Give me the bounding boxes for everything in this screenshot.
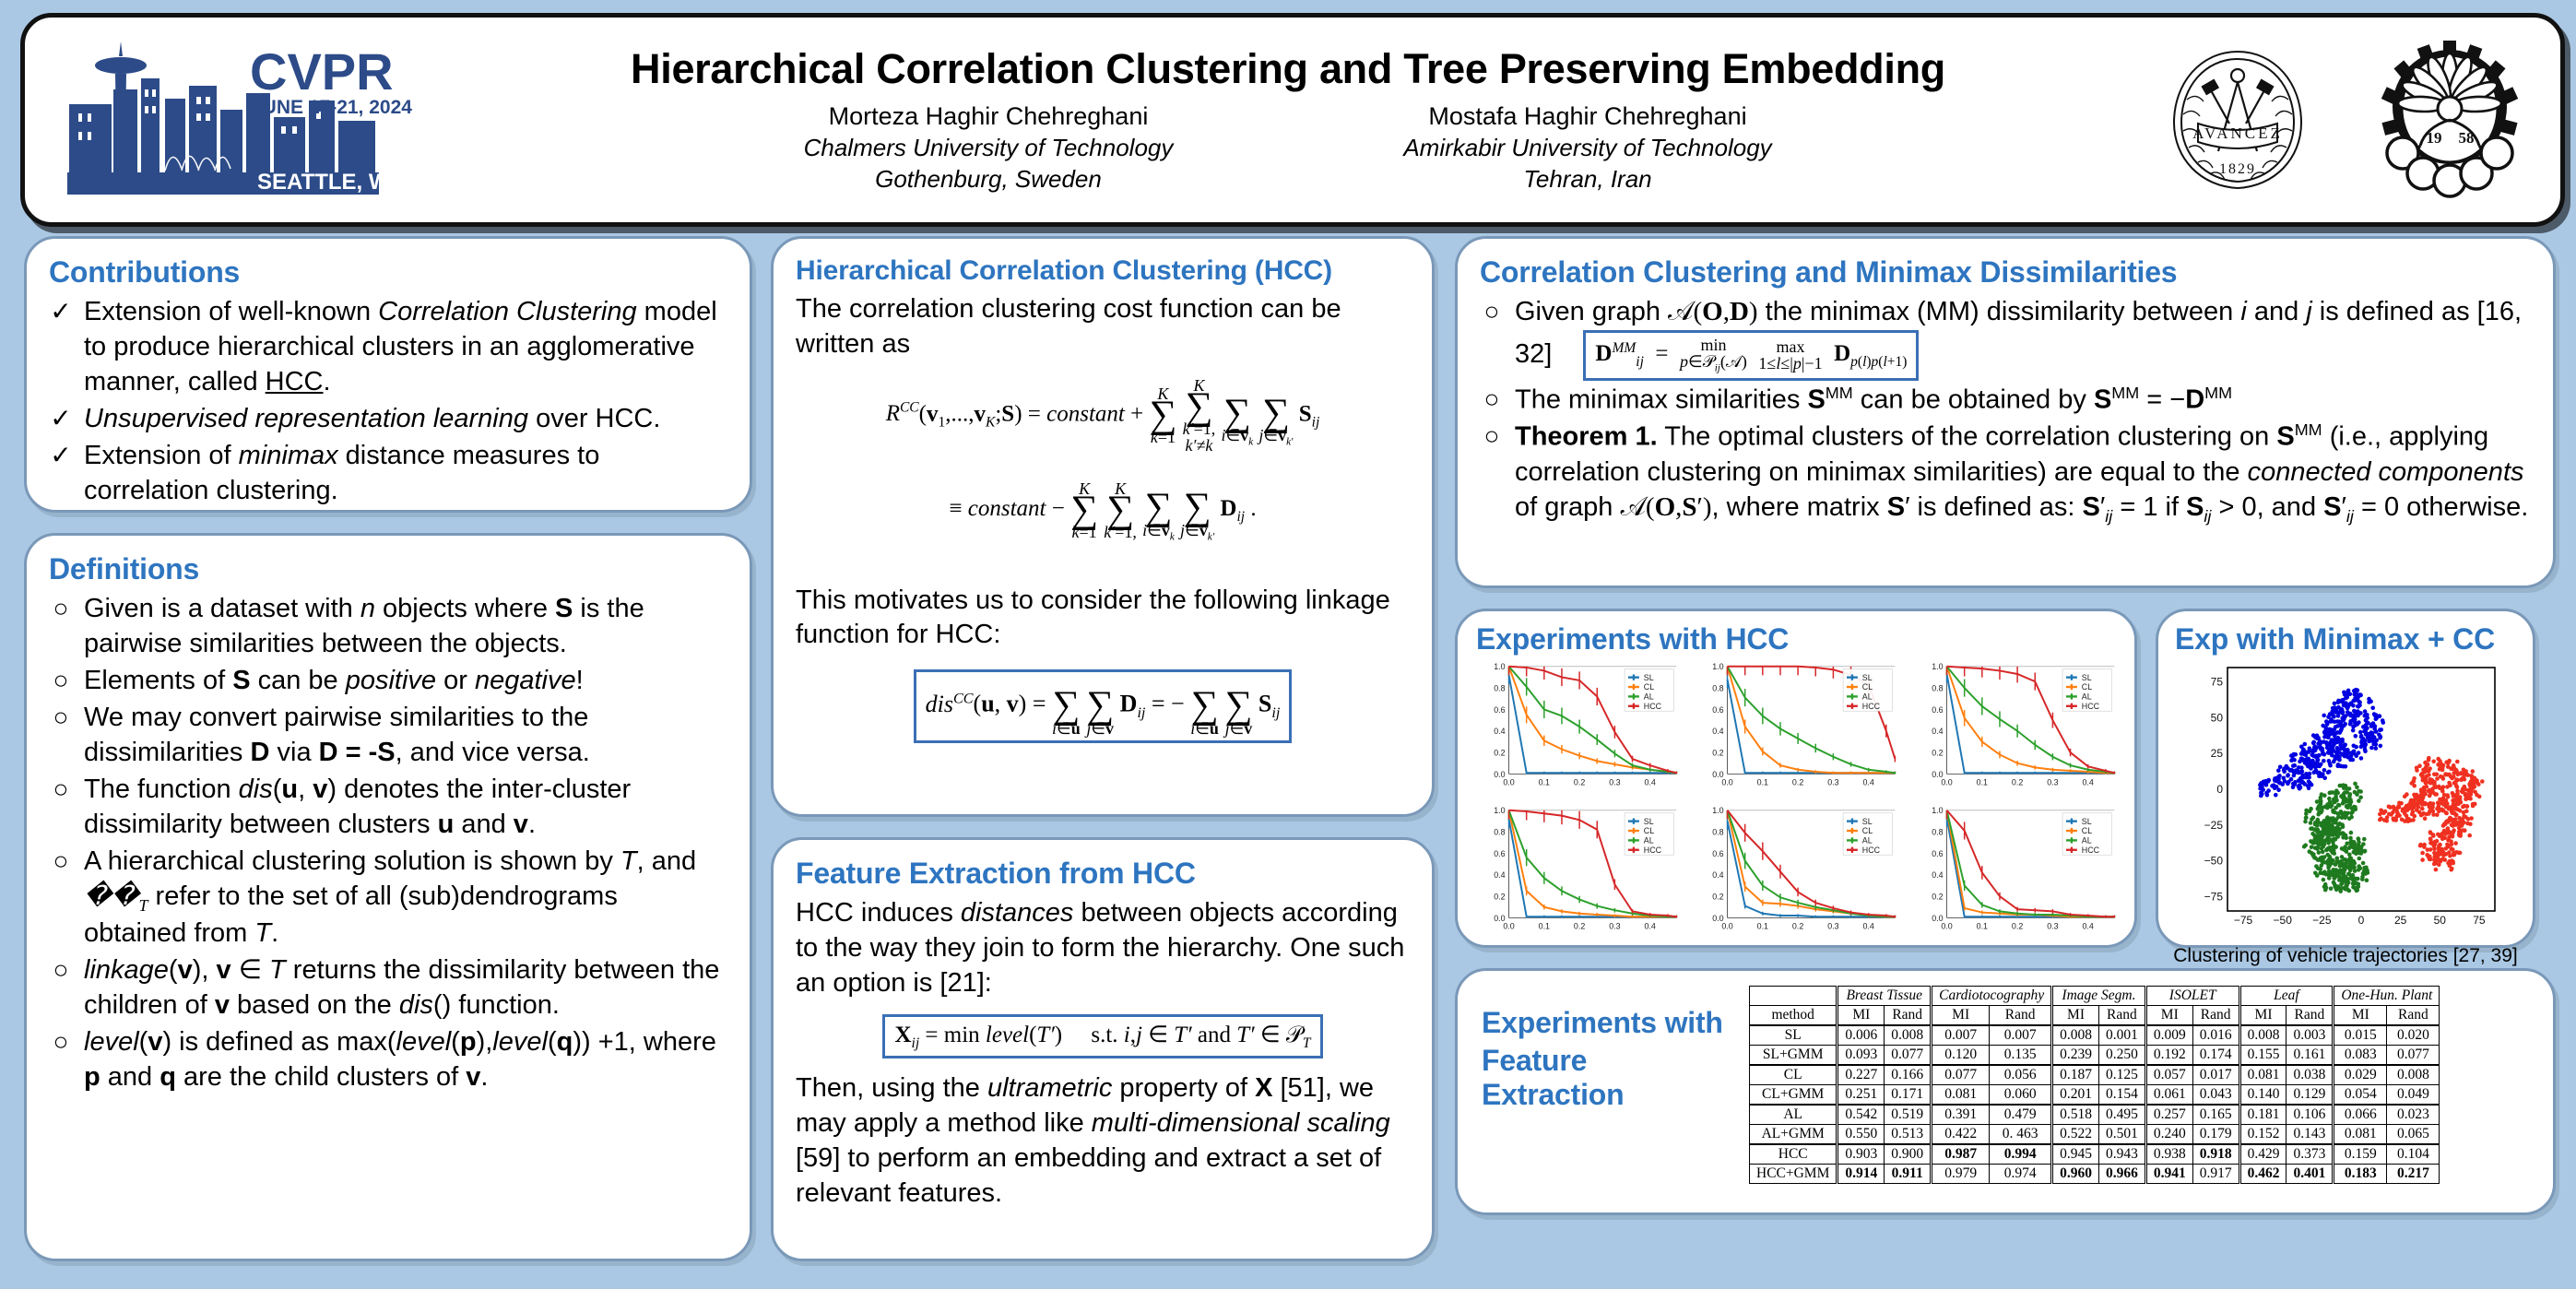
svg-text:0.4: 0.4 bbox=[1645, 777, 1656, 786]
value-cell: 0.003 bbox=[2286, 1025, 2334, 1046]
value-cell: 0.001 bbox=[2098, 1025, 2145, 1046]
circle-bullet-icon: ○ bbox=[49, 773, 73, 843]
svg-text:0.4: 0.4 bbox=[1932, 870, 1943, 880]
value-cell: 0.029 bbox=[2334, 1065, 2387, 1085]
author-2: Mostafa Haghir Chehreghani Amirkabir Uni… bbox=[1348, 101, 1827, 195]
svg-text:0.0: 0.0 bbox=[1503, 921, 1514, 930]
svg-text:0.2: 0.2 bbox=[1574, 777, 1585, 786]
svg-text:HCC: HCC bbox=[1644, 702, 1662, 711]
list-item: ○We may convert pairwise similarities to… bbox=[49, 701, 727, 771]
value-cell: 0.251 bbox=[1837, 1085, 1885, 1106]
method-cell: AL+GMM bbox=[1750, 1125, 1837, 1145]
definitions-heading: Definitions bbox=[49, 552, 727, 586]
contribution-text: Unsupervised representation learning ove… bbox=[84, 402, 727, 437]
svg-text:HCC: HCC bbox=[2081, 846, 2099, 855]
svg-text:CL: CL bbox=[1862, 682, 1873, 692]
line-chart-6: 0.00.20.40.60.81.00.00.10.20.30.4SLCLALH… bbox=[1910, 802, 2120, 940]
value-cell: 0.143 bbox=[2286, 1125, 2334, 1145]
method-cell: AL bbox=[1750, 1105, 1837, 1125]
definition-text: A hierarchical clustering solution is sh… bbox=[84, 845, 727, 952]
list-item: ○linkage(v), v ∈ T returns the dissimila… bbox=[49, 953, 727, 1023]
value-cell: 0.017 bbox=[2192, 1065, 2239, 1085]
method-cell: HCC bbox=[1750, 1144, 1837, 1165]
svg-text:0.4: 0.4 bbox=[1494, 727, 1505, 736]
value-cell: 0.083 bbox=[2334, 1046, 2387, 1066]
metric-header: MI bbox=[2052, 1006, 2099, 1026]
svg-text:CL: CL bbox=[1862, 826, 1873, 835]
dataset-header: ISOLET bbox=[2145, 987, 2239, 1006]
svg-text:0.1: 0.1 bbox=[1539, 921, 1550, 930]
metric-header: Rand bbox=[1990, 1006, 2052, 1026]
value-cell: 0.155 bbox=[2239, 1046, 2286, 1066]
svg-text:HCC: HCC bbox=[1862, 846, 1881, 855]
svg-text:AL: AL bbox=[2081, 836, 2091, 846]
circle-bullet-icon: ○ bbox=[1480, 295, 1504, 381]
definition-text: level(v) is defined as max(level(p),leve… bbox=[84, 1025, 727, 1095]
metric-header: Rand bbox=[2098, 1006, 2145, 1026]
value-cell: 0.057 bbox=[2145, 1065, 2192, 1085]
svg-text:0.4: 0.4 bbox=[2082, 921, 2093, 930]
corner-cell bbox=[1750, 987, 1837, 1006]
svg-text:0.2: 0.2 bbox=[1494, 749, 1505, 758]
svg-text:1.0: 1.0 bbox=[1713, 662, 1724, 671]
svg-text:0.2: 0.2 bbox=[1792, 777, 1803, 786]
svg-text:0.0: 0.0 bbox=[1722, 921, 1733, 930]
hcc-chart-4: 0.00.20.40.60.81.00.00.10.20.30.4SLCLALH… bbox=[1472, 802, 1682, 940]
value-cell: 0.043 bbox=[2192, 1085, 2239, 1106]
value-cell: 0.125 bbox=[2098, 1065, 2145, 1085]
value-cell: 0.016 bbox=[2192, 1025, 2239, 1046]
line-chart-3: 0.00.20.40.60.81.00.00.10.20.30.4SLCLALH… bbox=[1910, 658, 2120, 797]
svg-text:1.0: 1.0 bbox=[1494, 806, 1505, 815]
value-cell: 0.187 bbox=[2052, 1065, 2099, 1085]
circle-bullet-icon: ○ bbox=[49, 845, 73, 952]
svg-text:−25: −25 bbox=[2204, 819, 2224, 832]
value-cell: 0.049 bbox=[2387, 1085, 2440, 1106]
feature-extraction-heading: Feature Extraction from HCC bbox=[796, 857, 1410, 891]
value-cell: 0.250 bbox=[2098, 1046, 2145, 1066]
value-cell: 0.918 bbox=[2192, 1144, 2239, 1165]
list-item: ○Elements of S can be positive or negati… bbox=[49, 664, 727, 699]
value-cell: 0.522 bbox=[2052, 1125, 2099, 1145]
experiments-features-heading-line-2: Feature Extraction bbox=[1482, 1044, 1734, 1112]
svg-text:−50: −50 bbox=[2274, 914, 2293, 927]
results-table: Breast TissueCardiotocographyImage Segm.… bbox=[1749, 986, 2440, 1184]
minimax-item-3-text: Theorem 1. The optimal clusters of the c… bbox=[1515, 420, 2531, 527]
panel-feature-extraction: Feature Extraction from HCC HCC induces … bbox=[771, 837, 1435, 1261]
dataset-header: Leaf bbox=[2239, 987, 2334, 1006]
value-cell: 0.161 bbox=[2286, 1046, 2334, 1066]
svg-text:0: 0 bbox=[2216, 783, 2223, 796]
cvpr-wordmark: CVPR bbox=[250, 42, 394, 101]
experiments-features-heading-line-1: Experiments with bbox=[1482, 1006, 1734, 1040]
value-cell: 0.462 bbox=[2239, 1165, 2286, 1184]
svg-text:0.4: 0.4 bbox=[1863, 777, 1874, 786]
table-row: SL+GMM0.0930.0770.1200.1350.2390.2500.19… bbox=[1750, 1046, 2440, 1066]
value-cell: 0.077 bbox=[1885, 1046, 1932, 1066]
metric-header: MI bbox=[1837, 1006, 1885, 1026]
definition-text: linkage(v), v ∈ T returns the dissimilar… bbox=[84, 953, 727, 1023]
cvpr-logo: CVPR JUNE 17-21, 2024 SEATTLE, WA bbox=[25, 18, 449, 222]
list-item: ○ The minimax similarities SMM can be ob… bbox=[1480, 383, 2531, 419]
cvpr-city: SEATTLE, WA bbox=[257, 170, 405, 195]
panel-minimax: Correlation Clustering and Minimax Dissi… bbox=[1455, 236, 2556, 588]
value-cell: 0.166 bbox=[1885, 1065, 1932, 1085]
svg-text:0.2: 0.2 bbox=[1494, 893, 1505, 902]
check-icon: ✓ bbox=[49, 295, 73, 400]
svg-text:50: 50 bbox=[2434, 914, 2447, 927]
value-cell: 0.038 bbox=[2286, 1065, 2334, 1085]
value-cell: 0.945 bbox=[2052, 1144, 2099, 1165]
title-block: Hierarchical Correlation Clustering and … bbox=[449, 45, 2127, 195]
svg-text:0.3: 0.3 bbox=[2047, 777, 2058, 786]
vehicle-trajectory-scatter: −75−50−250255075−75−50−250255075 bbox=[2189, 660, 2502, 937]
panel-definitions: Definitions ○Given is a dataset with n o… bbox=[24, 533, 752, 1261]
method-cell: SL+GMM bbox=[1750, 1046, 1837, 1066]
svg-text:0.2: 0.2 bbox=[2012, 921, 2023, 930]
minimax-item-2-text: The minimax similarities SMM can be obta… bbox=[1515, 383, 2531, 419]
svg-text:0.8: 0.8 bbox=[1494, 828, 1505, 837]
list-item: ○The function dis(u, v) denotes the inte… bbox=[49, 773, 727, 843]
contributions-heading: Contributions bbox=[49, 255, 727, 290]
feature-equation-box: Xij = min level(T′) s.t. i,j ∈ T′ and T′… bbox=[796, 1014, 1410, 1058]
table-row: AL+GMM0.5500.5130.4220. 4630.5220.5010.2… bbox=[1750, 1125, 2440, 1145]
contribution-text: Extension of well-known Correlation Clus… bbox=[84, 295, 727, 400]
table-row: SL0.0060.0080.0070.0070.0080.0010.0090.0… bbox=[1750, 1025, 2440, 1046]
svg-text:25: 25 bbox=[2211, 747, 2224, 760]
amirkabir-year-right: 58 bbox=[2459, 129, 2475, 147]
scatter-caption: Clustering of vehicle trajectories [27, … bbox=[2171, 945, 2520, 967]
value-cell: 0.513 bbox=[1885, 1125, 1932, 1145]
value-cell: 0.008 bbox=[2387, 1065, 2440, 1085]
value-cell: 0.015 bbox=[2334, 1025, 2387, 1046]
value-cell: 0.227 bbox=[1837, 1065, 1885, 1085]
poster-header: CVPR JUNE 17-21, 2024 SEATTLE, WA Hierar… bbox=[20, 13, 2565, 227]
value-cell: 0.008 bbox=[1885, 1025, 1932, 1046]
svg-text:1.0: 1.0 bbox=[1713, 806, 1724, 815]
svg-text:AL: AL bbox=[1862, 692, 1873, 702]
feature-extraction-para-1: HCC induces distances between objects ac… bbox=[796, 896, 1410, 1001]
list-item: ✓ Extension of well-known Correlation Cl… bbox=[49, 295, 727, 400]
value-cell: 0.154 bbox=[2098, 1085, 2145, 1106]
circle-bullet-icon: ○ bbox=[49, 664, 73, 699]
svg-text:25: 25 bbox=[2394, 914, 2407, 927]
value-cell: 0.542 bbox=[1837, 1105, 1885, 1125]
value-cell: 0.023 bbox=[2387, 1105, 2440, 1125]
list-item: ✓ Unsupervised representation learning o… bbox=[49, 402, 727, 437]
value-cell: 0.174 bbox=[2192, 1046, 2239, 1066]
definition-text: We may convert pairwise similarities to … bbox=[84, 701, 727, 771]
metric-header: Rand bbox=[1885, 1006, 1932, 1026]
svg-text:0.4: 0.4 bbox=[1713, 870, 1724, 880]
svg-text:0.8: 0.8 bbox=[1494, 684, 1505, 693]
svg-text:AL: AL bbox=[1862, 836, 1873, 846]
svg-text:0.4: 0.4 bbox=[1863, 921, 1874, 930]
value-cell: 0.943 bbox=[2098, 1144, 2145, 1165]
hcc-equation-2: ≡ constant − K∑k=1 K∑k′=1, ∑i∈vk ∑j∈vk′ … bbox=[796, 478, 1410, 542]
value-cell: 0.183 bbox=[2334, 1165, 2387, 1184]
hcc-equation-1: RCC(v1,...,vK;S) = constant + K∑k=1 K∑k′… bbox=[796, 377, 1410, 454]
authors-row: Morteza Haghir Chehreghani Chalmers Univ… bbox=[455, 101, 2121, 195]
minimax-heading: Correlation Clustering and Minimax Dissi… bbox=[1480, 255, 2531, 290]
circle-bullet-icon: ○ bbox=[1480, 420, 1504, 527]
svg-text:HCC: HCC bbox=[1644, 846, 1662, 855]
table-row: HCC+GMM0.9140.9110.9790.9740.9600.9660.9… bbox=[1750, 1165, 2440, 1184]
cvpr-dates: JUNE 17-21, 2024 bbox=[252, 97, 412, 118]
value-cell: 0.914 bbox=[1837, 1165, 1885, 1184]
value-cell: 0.373 bbox=[2286, 1144, 2334, 1165]
svg-text:0.4: 0.4 bbox=[1645, 921, 1656, 930]
value-cell: 0.900 bbox=[1885, 1144, 1932, 1165]
value-cell: 0.201 bbox=[2052, 1085, 2099, 1106]
svg-text:1.0: 1.0 bbox=[1932, 806, 1943, 815]
list-item: ○ Given graph 𝒜(O,D) the minimax (MM) di… bbox=[1480, 295, 2531, 381]
contributions-list: ✓ Extension of well-known Correlation Cl… bbox=[49, 295, 727, 509]
table-row: CL+GMM0.2510.1710.0810.0600.2010.1540.06… bbox=[1750, 1085, 2440, 1106]
minimax-equation: DMMij = minp∈𝒫ij(𝒜) max1≤l≤|p|−1 Dp(l)p(… bbox=[1583, 330, 1919, 381]
hcc-linkage-equation-box: disCC(u, v) = ∑i∈u ∑j∈v Dij = − ∑i∈u ∑j∈… bbox=[796, 669, 1410, 742]
panel-hcc: Hierarchical Correlation Clustering (HCC… bbox=[771, 236, 1435, 817]
svg-text:SL: SL bbox=[2081, 817, 2091, 826]
svg-text:0.0: 0.0 bbox=[1941, 777, 1952, 786]
ultrametric-equation: Xij = min level(T′) s.t. i,j ∈ T′ and T′… bbox=[882, 1014, 1322, 1058]
poster-root: CVPR JUNE 17-21, 2024 SEATTLE, WA Hierar… bbox=[0, 0, 2576, 1289]
list-item: ○ Theorem 1. The optimal clusters of the… bbox=[1480, 420, 2531, 527]
value-cell: 0.135 bbox=[1990, 1046, 2052, 1066]
definitions-list: ○Given is a dataset with n objects where… bbox=[49, 592, 727, 1095]
experiments-row: Experiments with HCC 0.00.20.40.60.81.00… bbox=[1455, 609, 2556, 968]
svg-text:AL: AL bbox=[1644, 692, 1654, 702]
value-cell: 0.257 bbox=[2145, 1105, 2192, 1125]
value-cell: 0.979 bbox=[1932, 1165, 1990, 1184]
svg-text:0.6: 0.6 bbox=[1494, 849, 1505, 858]
svg-text:75: 75 bbox=[2473, 914, 2486, 927]
svg-text:0.6: 0.6 bbox=[1713, 849, 1724, 858]
svg-text:0.3: 0.3 bbox=[1828, 777, 1839, 786]
experiments-minimax-heading: Exp with Minimax + CC bbox=[2175, 622, 2520, 656]
metric-header: MI bbox=[2145, 1006, 2192, 1026]
results-table-container: Breast TissueCardiotocographyImage Segm.… bbox=[1749, 986, 2440, 1184]
value-cell: 0.501 bbox=[2098, 1125, 2145, 1145]
results-wrapper: Experiments with Feature Extraction Brea… bbox=[1476, 986, 2535, 1184]
method-header: method bbox=[1750, 1006, 1837, 1026]
svg-text:0.1: 0.1 bbox=[1757, 921, 1768, 930]
svg-text:0.2: 0.2 bbox=[1792, 921, 1803, 930]
value-cell: 0.941 bbox=[2145, 1165, 2192, 1184]
svg-text:0: 0 bbox=[2358, 914, 2365, 927]
value-cell: 0.104 bbox=[2387, 1144, 2440, 1165]
value-cell: 0.903 bbox=[1837, 1144, 1885, 1165]
value-cell: 0.391 bbox=[1932, 1105, 1990, 1125]
value-cell: 0.479 bbox=[1990, 1105, 2052, 1125]
circle-bullet-icon: ○ bbox=[49, 953, 73, 1023]
panel-experiments-features: Experiments with Feature Extraction Brea… bbox=[1455, 968, 2556, 1215]
hcc-chart-1: 0.00.20.40.60.81.00.00.10.20.30.4SLCLALH… bbox=[1472, 658, 1682, 797]
svg-text:0.2: 0.2 bbox=[1713, 893, 1724, 902]
svg-text:CL: CL bbox=[1644, 826, 1654, 835]
svg-text:0.0: 0.0 bbox=[1941, 921, 1952, 930]
value-cell: 0.007 bbox=[1932, 1025, 1990, 1046]
value-cell: 0.140 bbox=[2239, 1085, 2286, 1106]
svg-text:0.3: 0.3 bbox=[1609, 777, 1620, 786]
svg-text:0.4: 0.4 bbox=[1713, 727, 1724, 736]
hcc-motivation: This motivates us to consider the follow… bbox=[796, 584, 1410, 654]
results-heading: Experiments with Feature Extraction bbox=[1476, 986, 1734, 1112]
svg-text:0.8: 0.8 bbox=[1932, 684, 1943, 693]
svg-text:0.2: 0.2 bbox=[2012, 777, 2023, 786]
value-cell: 0.518 bbox=[2052, 1105, 2099, 1125]
panel-experiments-minimax: Exp with Minimax + CC −75−50−250255075−7… bbox=[2156, 609, 2535, 948]
hcc-intro: The correlation clustering cost function… bbox=[796, 292, 1410, 362]
svg-text:−25: −25 bbox=[2312, 914, 2332, 927]
method-cell: HCC+GMM bbox=[1750, 1165, 1837, 1184]
svg-text:0.0: 0.0 bbox=[1503, 777, 1514, 786]
line-chart-2: 0.00.20.40.60.81.00.00.10.20.30.4SLCLALH… bbox=[1691, 658, 1900, 797]
value-cell: 0.106 bbox=[2286, 1105, 2334, 1125]
svg-text:AL: AL bbox=[2081, 692, 2091, 702]
chalmers-year: 1829 bbox=[2219, 161, 2256, 177]
metric-header: Rand bbox=[2192, 1006, 2239, 1026]
definition-text: The function dis(u, v) denotes the inter… bbox=[84, 773, 727, 843]
value-cell: 0.181 bbox=[2239, 1105, 2286, 1125]
value-cell: 0.093 bbox=[1837, 1046, 1885, 1066]
value-cell: 0.120 bbox=[1932, 1046, 1990, 1066]
svg-text:0.6: 0.6 bbox=[1932, 705, 1943, 715]
value-cell: 0.938 bbox=[2145, 1144, 2192, 1165]
list-item: ✓ Extension of minimax distance measures… bbox=[49, 439, 727, 509]
author-1: Morteza Haghir Chehreghani Chalmers Univ… bbox=[749, 101, 1228, 195]
value-cell: 0.974 bbox=[1990, 1165, 2052, 1184]
value-cell: 0.061 bbox=[2145, 1085, 2192, 1106]
svg-text:0.2: 0.2 bbox=[1932, 893, 1943, 902]
value-cell: 0.495 bbox=[2098, 1105, 2145, 1125]
value-cell: 0.422 bbox=[1932, 1125, 1990, 1145]
svg-text:0.8: 0.8 bbox=[1713, 828, 1724, 837]
svg-text:50: 50 bbox=[2211, 711, 2224, 724]
dataset-header: Breast Tissue bbox=[1837, 987, 1932, 1006]
panel-experiments-hcc: Experiments with HCC 0.00.20.40.60.81.00… bbox=[1455, 609, 2137, 948]
svg-text:1.0: 1.0 bbox=[1932, 662, 1943, 671]
svg-text:0.1: 0.1 bbox=[1757, 777, 1768, 786]
svg-text:0.4: 0.4 bbox=[2082, 777, 2093, 786]
check-icon: ✓ bbox=[49, 439, 73, 509]
metric-header: Rand bbox=[2286, 1006, 2334, 1026]
method-cell: SL bbox=[1750, 1025, 1837, 1046]
value-cell: 0.054 bbox=[2334, 1085, 2387, 1106]
value-cell: 0.179 bbox=[2192, 1125, 2239, 1145]
author-2-location: Tehran, Iran bbox=[1348, 164, 1827, 195]
value-cell: 0. 463 bbox=[1990, 1125, 2052, 1145]
value-cell: 0.966 bbox=[2098, 1165, 2145, 1184]
contribution-text: Extension of minimax distance measures t… bbox=[84, 439, 727, 509]
hcc-chart-6: 0.00.20.40.60.81.00.00.10.20.30.4SLCLALH… bbox=[1910, 802, 2120, 940]
value-cell: 0.009 bbox=[2145, 1025, 2192, 1046]
cvpr-seattle-logo-svg: CVPR JUNE 17-21, 2024 SEATTLE, WA bbox=[53, 32, 421, 207]
method-cell: CL+GMM bbox=[1750, 1085, 1837, 1106]
value-cell: 0.171 bbox=[1885, 1085, 1932, 1106]
chalmers-motto: AVANCEZ bbox=[2192, 124, 2283, 142]
dataset-header: Cardiotocography bbox=[1932, 987, 2052, 1006]
column-left: Contributions ✓ Extension of well-known … bbox=[24, 236, 752, 1282]
table-header-metrics: methodMIRandMIRandMIRandMIRandMIRandMIRa… bbox=[1750, 1006, 2440, 1026]
value-cell: 0.994 bbox=[1990, 1144, 2052, 1165]
value-cell: 0.401 bbox=[2286, 1165, 2334, 1184]
svg-text:CL: CL bbox=[2081, 826, 2091, 835]
value-cell: 0.429 bbox=[2239, 1144, 2286, 1165]
line-chart-4: 0.00.20.40.60.81.00.00.10.20.30.4SLCLALH… bbox=[1472, 802, 1682, 940]
definition-text: Given is a dataset with n objects where … bbox=[84, 592, 727, 662]
svg-text:0.8: 0.8 bbox=[1932, 828, 1943, 837]
line-chart-1: 0.00.20.40.60.81.00.00.10.20.30.4SLCLALH… bbox=[1472, 658, 1682, 797]
svg-text:0.6: 0.6 bbox=[1713, 705, 1724, 715]
value-cell: 0.960 bbox=[2052, 1165, 2099, 1184]
dataset-header: Image Segm. bbox=[2052, 987, 2146, 1006]
hcc-chart-grid: 0.00.20.40.60.81.00.00.10.20.30.4SLCLALH… bbox=[1472, 658, 2120, 940]
value-cell: 0.129 bbox=[2286, 1085, 2334, 1106]
value-cell: 0.987 bbox=[1932, 1144, 1990, 1165]
svg-text:−75: −75 bbox=[2234, 914, 2253, 927]
svg-text:0.6: 0.6 bbox=[1932, 849, 1943, 858]
value-cell: 0.917 bbox=[2192, 1165, 2239, 1184]
scatter-plot-container: −75−50−250255075−75−50−250255075 bbox=[2171, 660, 2520, 941]
svg-text:SL: SL bbox=[1862, 817, 1873, 826]
circle-bullet-icon: ○ bbox=[49, 592, 73, 662]
table-row: HCC0.9030.9000.9870.9940.9450.9430.9380.… bbox=[1750, 1144, 2440, 1165]
svg-text:0.0: 0.0 bbox=[1722, 777, 1733, 786]
value-cell: 0.081 bbox=[1932, 1085, 1990, 1106]
svg-text:0.4: 0.4 bbox=[1494, 870, 1505, 880]
metric-header: MI bbox=[1932, 1006, 1990, 1026]
circle-bullet-icon: ○ bbox=[49, 1025, 73, 1095]
check-icon: ✓ bbox=[49, 402, 73, 437]
value-cell: 0.159 bbox=[2334, 1144, 2387, 1165]
svg-text:−75: −75 bbox=[2204, 890, 2224, 903]
line-chart-5: 0.00.20.40.60.81.00.00.10.20.30.4SLCLALH… bbox=[1691, 802, 1900, 940]
value-cell: 0.240 bbox=[2145, 1125, 2192, 1145]
method-cell: CL bbox=[1750, 1065, 1837, 1085]
circle-bullet-icon: ○ bbox=[1480, 383, 1504, 419]
svg-text:0.1: 0.1 bbox=[1976, 777, 1987, 786]
minimax-list: ○ Given graph 𝒜(O,D) the minimax (MM) di… bbox=[1480, 295, 2531, 527]
svg-text:0.2: 0.2 bbox=[1932, 749, 1943, 758]
experiments-hcc-heading: Experiments with HCC bbox=[1476, 622, 2120, 656]
amirkabir-logo: 19 58 bbox=[2362, 35, 2537, 206]
value-cell: 0.065 bbox=[2387, 1125, 2440, 1145]
value-cell: 0.152 bbox=[2239, 1125, 2286, 1145]
svg-text:AL: AL bbox=[1644, 836, 1654, 846]
list-item: ○level(v) is defined as max(level(p),lev… bbox=[49, 1025, 727, 1095]
value-cell: 0.066 bbox=[2334, 1105, 2387, 1125]
column-right: Correlation Clustering and Minimax Dissi… bbox=[1455, 236, 2556, 1236]
svg-text:SL: SL bbox=[2081, 673, 2091, 682]
svg-text:HCC: HCC bbox=[2081, 702, 2099, 711]
svg-text:0.3: 0.3 bbox=[2047, 921, 2058, 930]
amirkabir-year-left: 19 bbox=[2427, 129, 2442, 147]
author-1-affiliation: Chalmers University of Technology bbox=[749, 133, 1228, 164]
value-cell: 0.239 bbox=[2052, 1046, 2099, 1066]
value-cell: 0.165 bbox=[2192, 1105, 2239, 1125]
value-cell: 0.020 bbox=[2387, 1025, 2440, 1046]
value-cell: 0.077 bbox=[1932, 1065, 1990, 1085]
svg-text:75: 75 bbox=[2211, 676, 2224, 689]
chalmers-logo: AVANCEZ 1829 bbox=[2150, 35, 2325, 206]
svg-text:CL: CL bbox=[1644, 682, 1654, 692]
table-header-datasets: Breast TissueCardiotocographyImage Segm.… bbox=[1750, 987, 2440, 1006]
hcc-heading: Hierarchical Correlation Clustering (HCC… bbox=[796, 255, 1410, 287]
svg-text:0.6: 0.6 bbox=[1494, 705, 1505, 715]
svg-text:0.1: 0.1 bbox=[1539, 777, 1550, 786]
hcc-chart-2: 0.00.20.40.60.81.00.00.10.20.30.4SLCLALH… bbox=[1691, 658, 1900, 797]
